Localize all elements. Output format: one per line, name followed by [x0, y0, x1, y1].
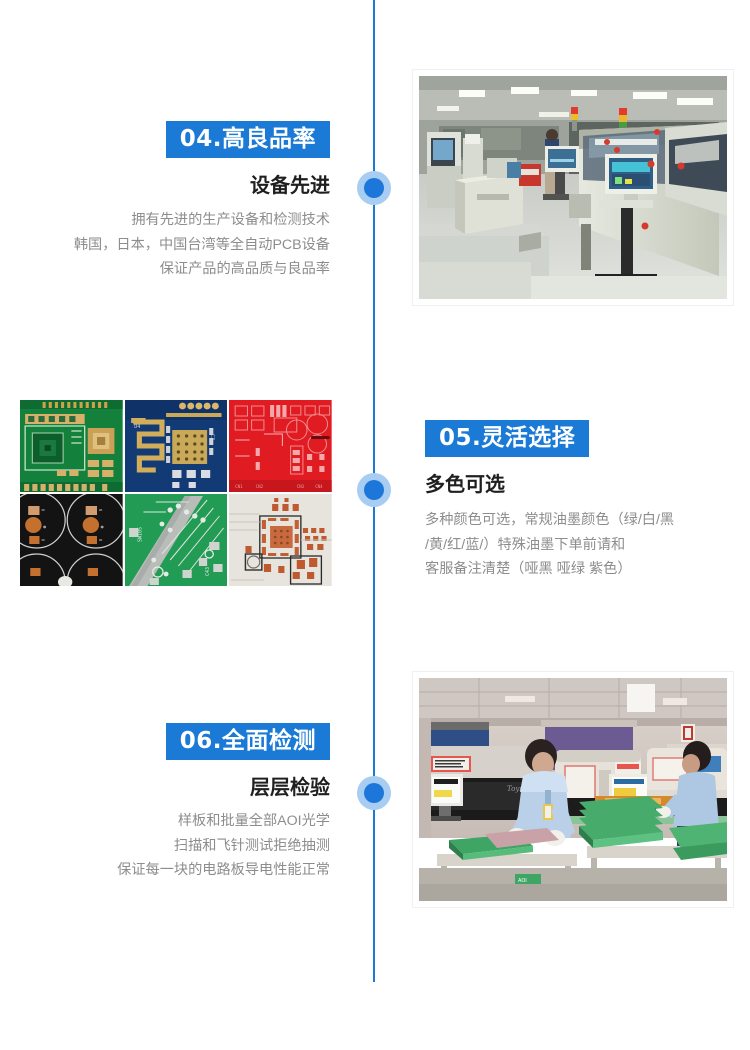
section-04-subtitle: 设备先进: [74, 174, 330, 198]
timeline-dot-core: [364, 783, 384, 803]
svg-text:CN4: CN4: [316, 484, 324, 489]
pcb-black-image: [20, 494, 123, 586]
section-04-line-2: 韩国，日本，中国台湾等全自动PCB设备: [74, 233, 330, 257]
section-06-body: 样板和批量全部AOI光学 扫描和飞针测试拒绝抽测 保证每一块的电路板导电性能正常: [117, 809, 330, 882]
pcb-black-led-board: [20, 494, 123, 586]
section-04: 04.高良品率 设备先进 拥有先进的生产设备和检测技术 韩国，日本，中国台湾等全…: [74, 121, 330, 281]
timeline-dot-04: [357, 171, 391, 205]
pcb-green-board: [20, 400, 123, 492]
section-05-line-2: /黄/红/蓝/）特殊油墨下单前请和: [425, 533, 674, 557]
timeline-dot-core: [364, 178, 384, 198]
svg-text:AOI: AOI: [518, 878, 527, 884]
pcb-white-board: [229, 494, 332, 586]
section-05-badge-title: 灵活选择: [481, 424, 575, 450]
svg-text:SW105: SW105: [137, 527, 143, 542]
section-04-badge: 04.高良品率: [166, 121, 330, 158]
pcb-blue-image: D4: [125, 400, 228, 492]
section-04-line-1: 拥有先进的生产设备和检测技术: [74, 208, 330, 232]
aoi-workshop-image: Toyma: [419, 678, 727, 901]
section-05: 05.灵活选择 多色可选 多种颜色可选，常规油墨颜色（绿/白/黑 /黄/红/蓝/…: [425, 420, 674, 581]
svg-text:C3: C3: [209, 434, 215, 440]
section-06-line-1: 样板和批量全部AOI光学: [117, 809, 330, 833]
section-04-body: 拥有先进的生产设备和检测技术 韩国，日本，中国台湾等全自动PCB设备 保证产品的…: [74, 208, 330, 281]
pcb-green-trace-image: SW105 C43: [125, 494, 228, 586]
section-04-badge-title: 高良品率: [222, 125, 316, 151]
timeline-dot-06: [357, 776, 391, 810]
section-05-line-1: 多种颜色可选，常规油墨颜色（绿/白/黑: [425, 508, 674, 532]
section-06-badge-title: 全面检测: [222, 727, 316, 753]
section-06-badge: 06.全面检测: [166, 723, 330, 760]
section-05-number: 05.: [439, 425, 481, 451]
pcb-color-gallery: D4: [20, 400, 332, 586]
section-05-body: 多种颜色可选，常规油墨颜色（绿/白/黑 /黄/红/蓝/）特殊油墨下单前请和 客服…: [425, 508, 674, 581]
pcb-red-board: CN1CN2 CN3CN4: [229, 400, 332, 492]
section-04-number: 04.: [180, 126, 222, 152]
pcb-blue-board: D4: [125, 400, 228, 492]
section-06-line-2: 扫描和飞针测试拒绝抽测: [117, 834, 330, 858]
svg-text:CN2: CN2: [256, 484, 264, 489]
section-06-number: 06.: [180, 728, 222, 754]
section-05-subtitle: 多色可选: [425, 473, 674, 497]
pcb-green-trace-board: SW105 C43: [125, 494, 228, 586]
timeline-dot-core: [364, 480, 384, 500]
pcb-green-image: [20, 400, 123, 492]
svg-text:C43: C43: [205, 567, 211, 576]
svg-text:CN3: CN3: [297, 484, 305, 489]
timeline-dot-05: [357, 473, 391, 507]
section-06: 06.全面检测 层层检验 样板和批量全部AOI光学 扫描和飞针测试拒绝抽测 保证…: [117, 723, 330, 882]
section-05-badge: 05.灵活选择: [425, 420, 589, 457]
smt-production-line-photo: [413, 70, 733, 305]
pcb-red-image: CN1CN2 CN3CN4: [229, 400, 332, 492]
section-05-line-3: 客服备注清楚（哑黑 哑绿 紫色）: [425, 557, 674, 581]
section-06-line-3: 保证每一块的电路板导电性能正常: [117, 858, 330, 882]
product-detail-page: 04.高良品率 设备先进 拥有先进的生产设备和检测技术 韩国，日本，中国台湾等全…: [0, 0, 750, 1050]
svg-text:D4: D4: [134, 424, 140, 430]
section-06-subtitle: 层层检验: [117, 776, 330, 800]
section-04-line-3: 保证产品的高品质与良品率: [74, 257, 330, 281]
smt-line-image: [419, 76, 727, 299]
aoi-inspection-photo: Toyma: [413, 672, 733, 907]
pcb-white-image: [229, 494, 332, 586]
svg-text:CN1: CN1: [235, 484, 243, 489]
